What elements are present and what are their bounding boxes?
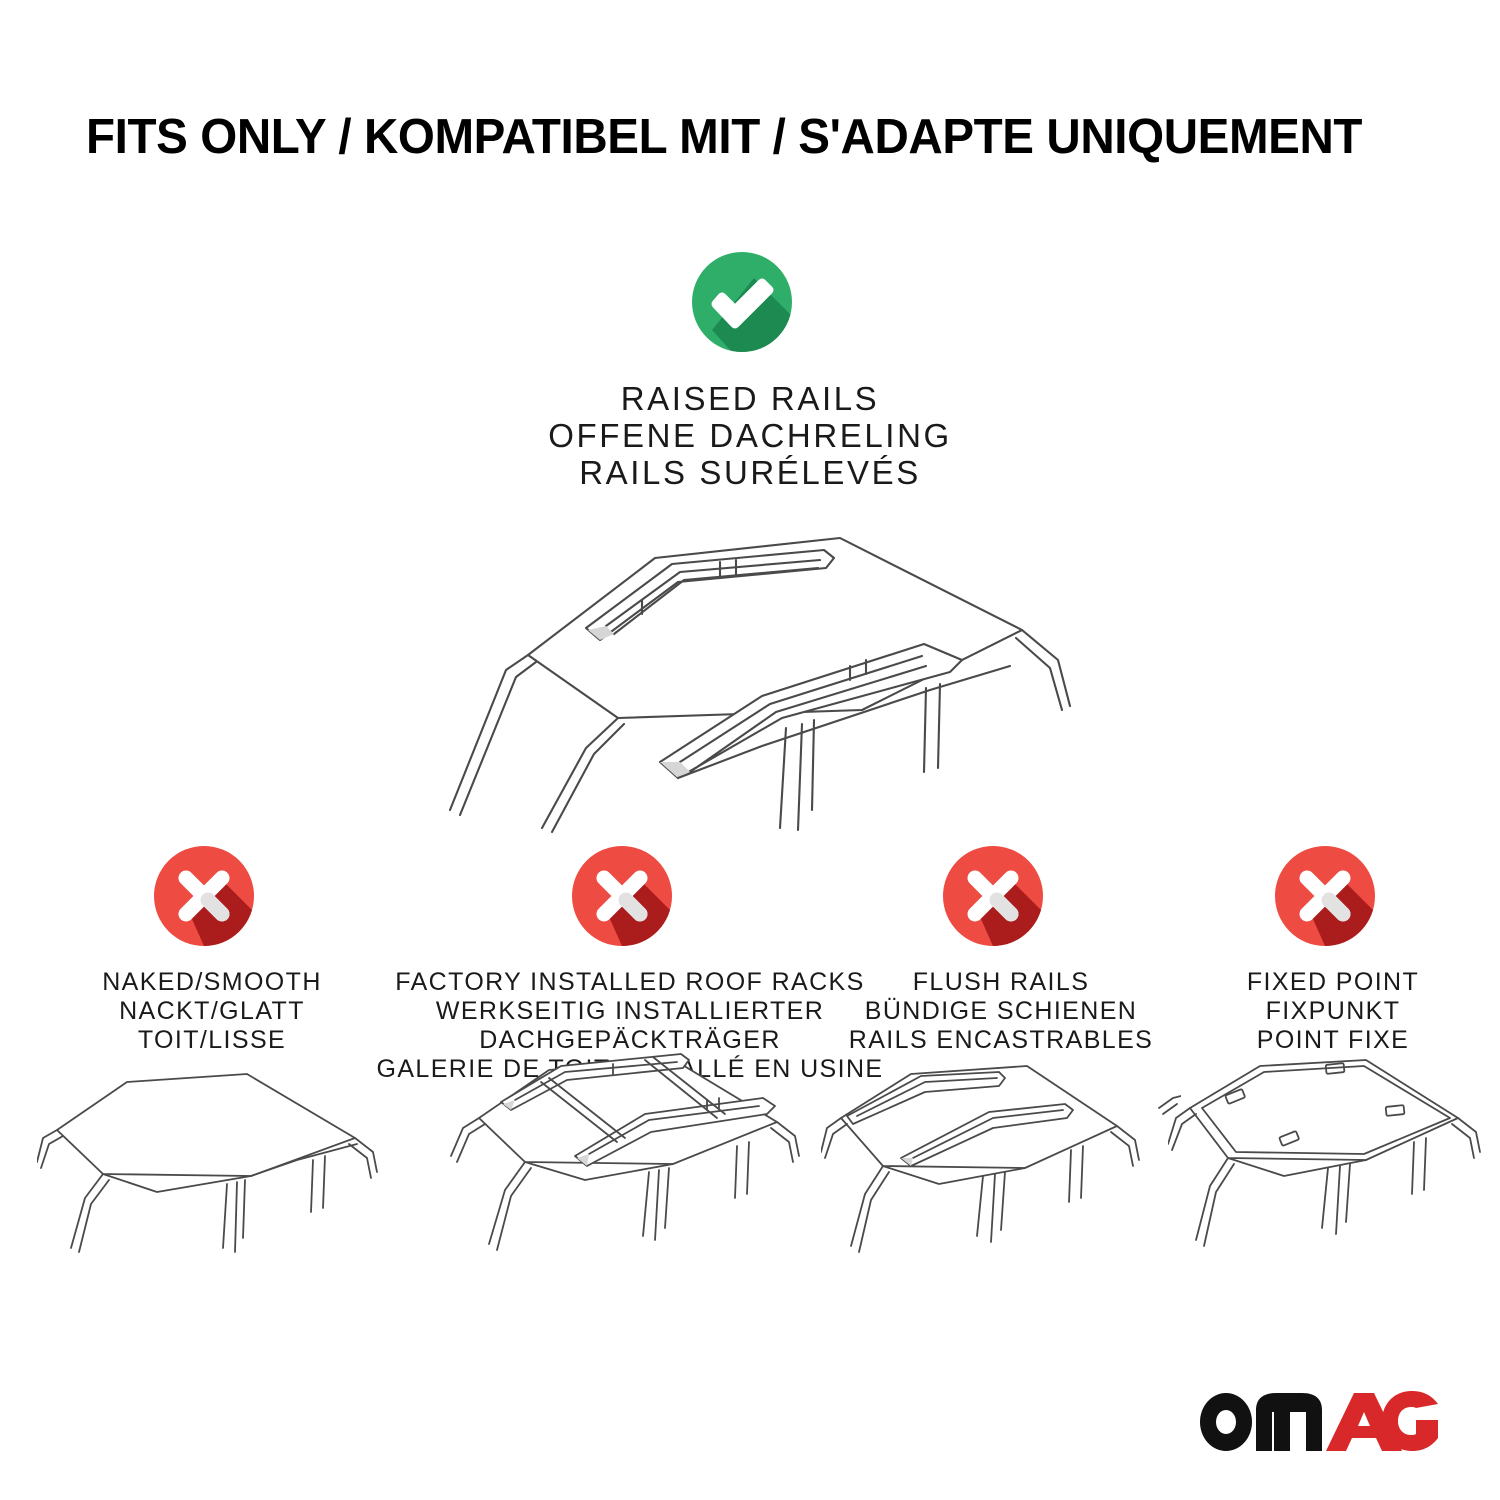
- incompatible-section: NAKED/SMOOTH NACKT/GLATT TOIT/LISSE: [0, 846, 1500, 1286]
- omac-logo-mark: [1198, 1390, 1438, 1452]
- incompatible-labels: NAKED/SMOOTH NACKT/GLATT TOIT/LISSE: [102, 968, 322, 1055]
- compatible-labels: RAISED RAILS OFFENE DACHRELING RAILS SUR…: [0, 380, 1500, 491]
- x-circle-icon: [572, 846, 672, 946]
- incompatible-label-de: NACKT/GLATT: [102, 997, 322, 1026]
- raised-rails-illustration: [410, 510, 1090, 840]
- fixed-point-illustration: [1168, 1052, 1498, 1277]
- incompatible-column-flush-rails: FLUSH RAILS BÜNDIGE SCHIENEN RAILS ENCAS…: [836, 846, 1166, 1286]
- check-circle-badge: [692, 252, 808, 356]
- fixed-point-drawing: [1168, 1052, 1498, 1277]
- x-circle-badge: [1275, 846, 1391, 950]
- compatible-label-fr: RAILS SURÉLEVÉS: [0, 454, 1500, 491]
- incompatible-column-factory-racks: FACTORY INSTALLED ROOF RACKS WERKSEITIG …: [424, 846, 836, 1286]
- incompatible-label-en: NAKED/SMOOTH: [102, 968, 322, 997]
- x-circle-icon: [154, 846, 254, 946]
- x-circle-badge: [943, 846, 1059, 950]
- incompatible-label-en: FLUSH RAILS: [849, 968, 1153, 997]
- x-circle-icon: [943, 846, 1043, 946]
- incompatible-label-en: FIXED POINT: [1247, 968, 1419, 997]
- naked-smooth-drawing: [37, 1052, 387, 1277]
- incompatible-column-naked-smooth: NAKED/SMOOTH NACKT/GLATT TOIT/LISSE: [0, 846, 424, 1286]
- incompatible-column-fixed-point: FIXED POINT FIXPUNKT POINT FIXE: [1166, 846, 1500, 1286]
- omac-logo: [1198, 1390, 1438, 1452]
- compatible-label-de: OFFENE DACHRELING: [0, 417, 1500, 454]
- x-circle-icon: [1275, 846, 1375, 946]
- incompatible-label-fr: POINT FIXE: [1247, 1026, 1419, 1055]
- incompatible-labels: FLUSH RAILS BÜNDIGE SCHIENEN RAILS ENCAS…: [849, 968, 1153, 1055]
- incompatible-labels: FIXED POINT FIXPUNKT POINT FIXE: [1247, 968, 1419, 1055]
- compatible-label-en: RAISED RAILS: [0, 380, 1500, 417]
- incompatible-label-fr: RAILS ENCASTRABLES: [849, 1026, 1153, 1055]
- incompatible-label-de: BÜNDIGE SCHIENEN: [849, 997, 1153, 1026]
- factory-racks-illustration: [445, 1052, 815, 1277]
- x-glyph: [943, 846, 1043, 946]
- x-glyph: [1275, 846, 1375, 946]
- naked-smooth-illustration: [37, 1052, 387, 1277]
- incompatible-label-de-2: DACHGEPÄCKTRÄGER: [377, 1026, 884, 1055]
- compatible-section: RAISED RAILS OFFENE DACHRELING RAILS SUR…: [0, 252, 1500, 491]
- x-circle-badge: [154, 846, 270, 950]
- factory-racks-drawing: [445, 1052, 815, 1277]
- page-title: FITS ONLY / KOMPATIBEL MIT / S'ADAPTE UN…: [86, 106, 1376, 168]
- check-circle-icon: [692, 252, 792, 352]
- check-glyph: [692, 252, 792, 352]
- flush-rails-drawing: [821, 1052, 1181, 1277]
- incompatible-label-de-1: WERKSEITIG INSTALLIERTER: [377, 997, 884, 1026]
- x-glyph: [154, 846, 254, 946]
- fitment-infographic: FITS ONLY / KOMPATIBEL MIT / S'ADAPTE UN…: [0, 0, 1500, 1500]
- incompatible-label-en: FACTORY INSTALLED ROOF RACKS: [377, 968, 884, 997]
- x-circle-badge: [572, 846, 688, 950]
- incompatible-label-de: FIXPUNKT: [1247, 997, 1419, 1026]
- incompatible-label-fr: TOIT/LISSE: [102, 1026, 322, 1055]
- raised-rails-drawing: [410, 510, 1090, 840]
- flush-rails-illustration: [821, 1052, 1181, 1277]
- x-glyph: [572, 846, 672, 946]
